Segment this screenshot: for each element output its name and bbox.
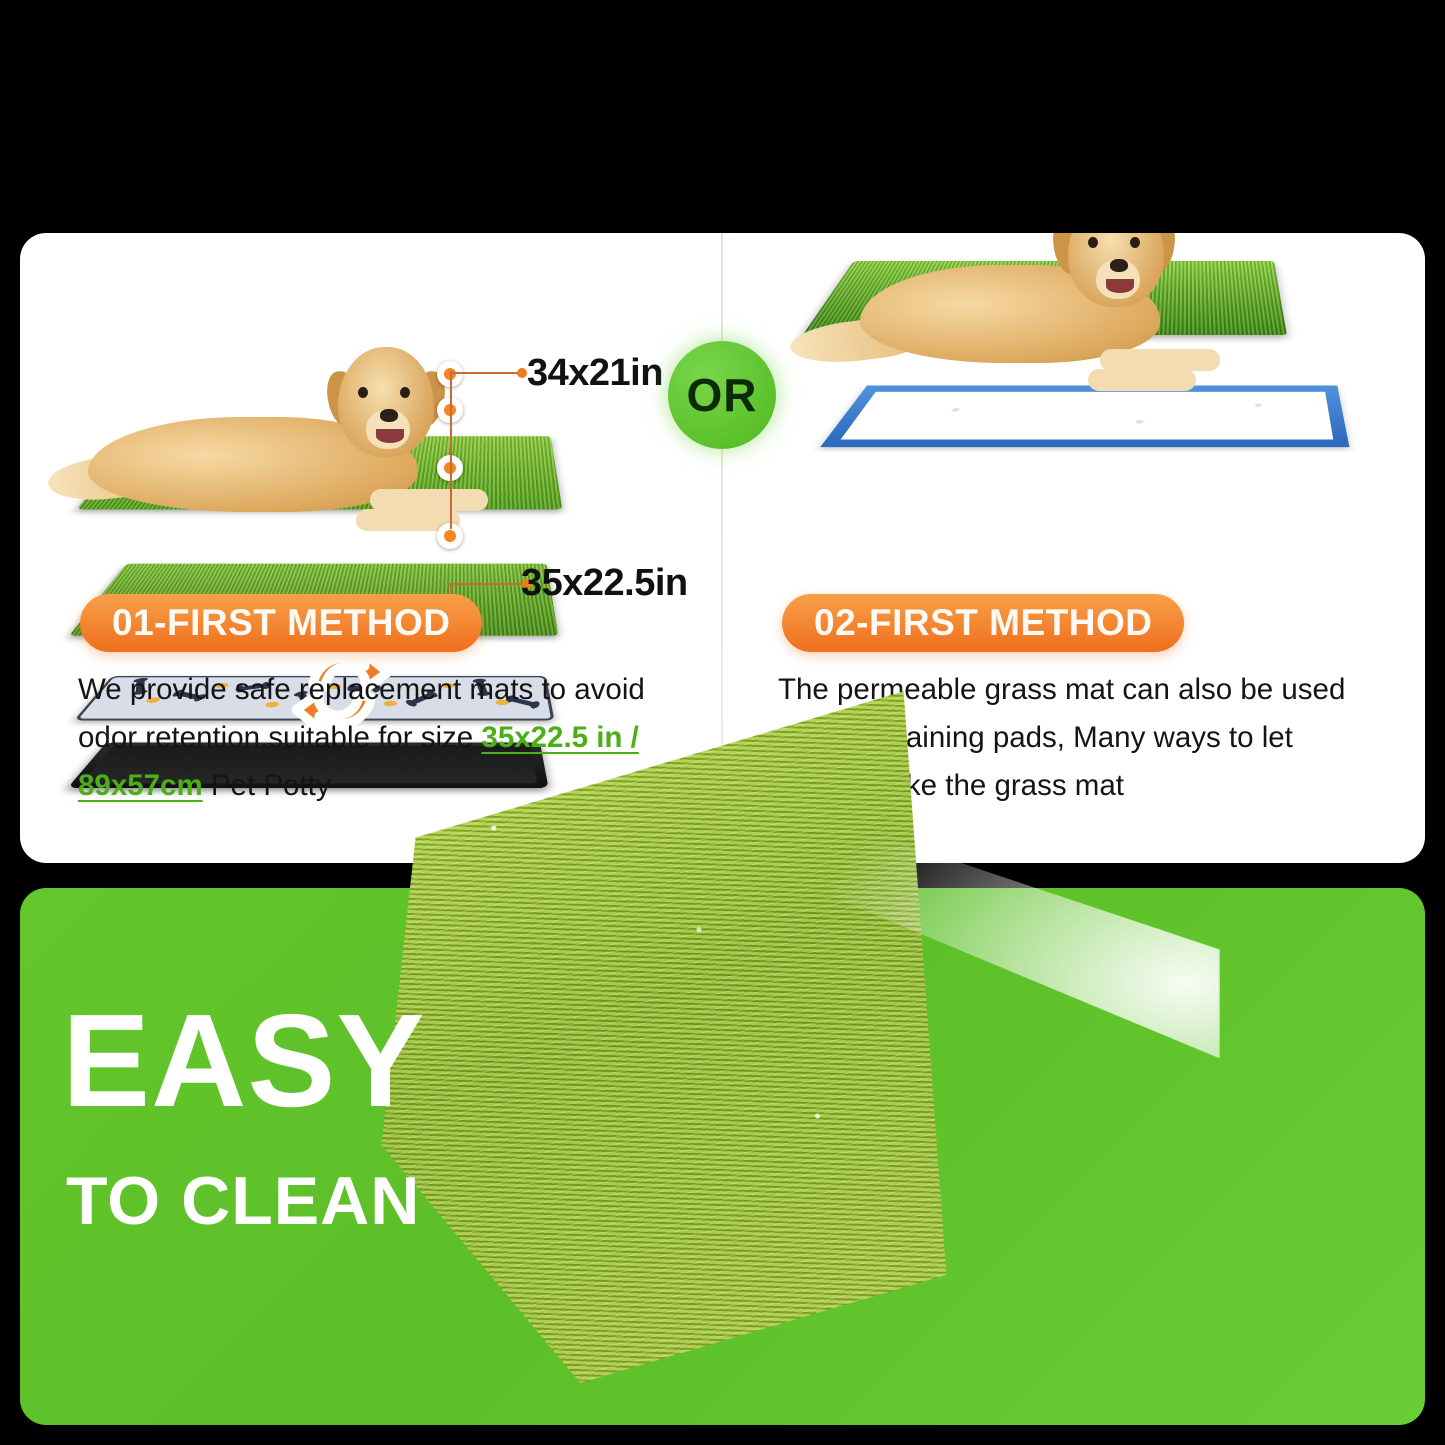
header-band xyxy=(0,0,1445,233)
to-clean-subhead: TO CLEAN xyxy=(66,1162,420,1240)
dog-paw xyxy=(1100,349,1220,371)
dog-paw xyxy=(1088,369,1196,391)
dog-on-grass-right xyxy=(800,233,1270,353)
dog-mouth xyxy=(376,429,404,443)
dog-eye xyxy=(358,387,368,398)
dog-on-pad-illustration xyxy=(800,233,1420,483)
dog-nose xyxy=(380,409,398,422)
callout-leader-34 xyxy=(450,372,522,374)
or-badge: OR xyxy=(668,341,776,449)
dog-on-grass-left xyxy=(70,339,500,539)
easy-headline: EASY xyxy=(62,1000,425,1121)
method-01-text-after: Pet Potty xyxy=(203,769,331,802)
method-badge-02: 02-FIRST METHOD xyxy=(782,594,1184,652)
method-01-description: We provide safe replacement mats to avoi… xyxy=(78,666,658,809)
dog-eye xyxy=(1088,237,1098,248)
dog-paw xyxy=(370,489,488,511)
callout-leader-35 xyxy=(450,583,528,585)
callout-nub-icon xyxy=(517,368,527,378)
method-badge-01: 01-FIRST METHOD xyxy=(80,594,482,652)
callout-leader-vertical xyxy=(450,371,452,529)
training-pad xyxy=(820,385,1349,447)
dog-eye xyxy=(400,387,410,398)
callout-label-grass-size: 34x21in xyxy=(527,352,663,395)
dog-nose xyxy=(1110,259,1128,272)
dog-eye xyxy=(1130,237,1140,248)
column-divider xyxy=(721,233,723,793)
dog-mouth xyxy=(1106,279,1134,293)
callout-label-tray-size: 35x22.5in xyxy=(521,562,688,605)
